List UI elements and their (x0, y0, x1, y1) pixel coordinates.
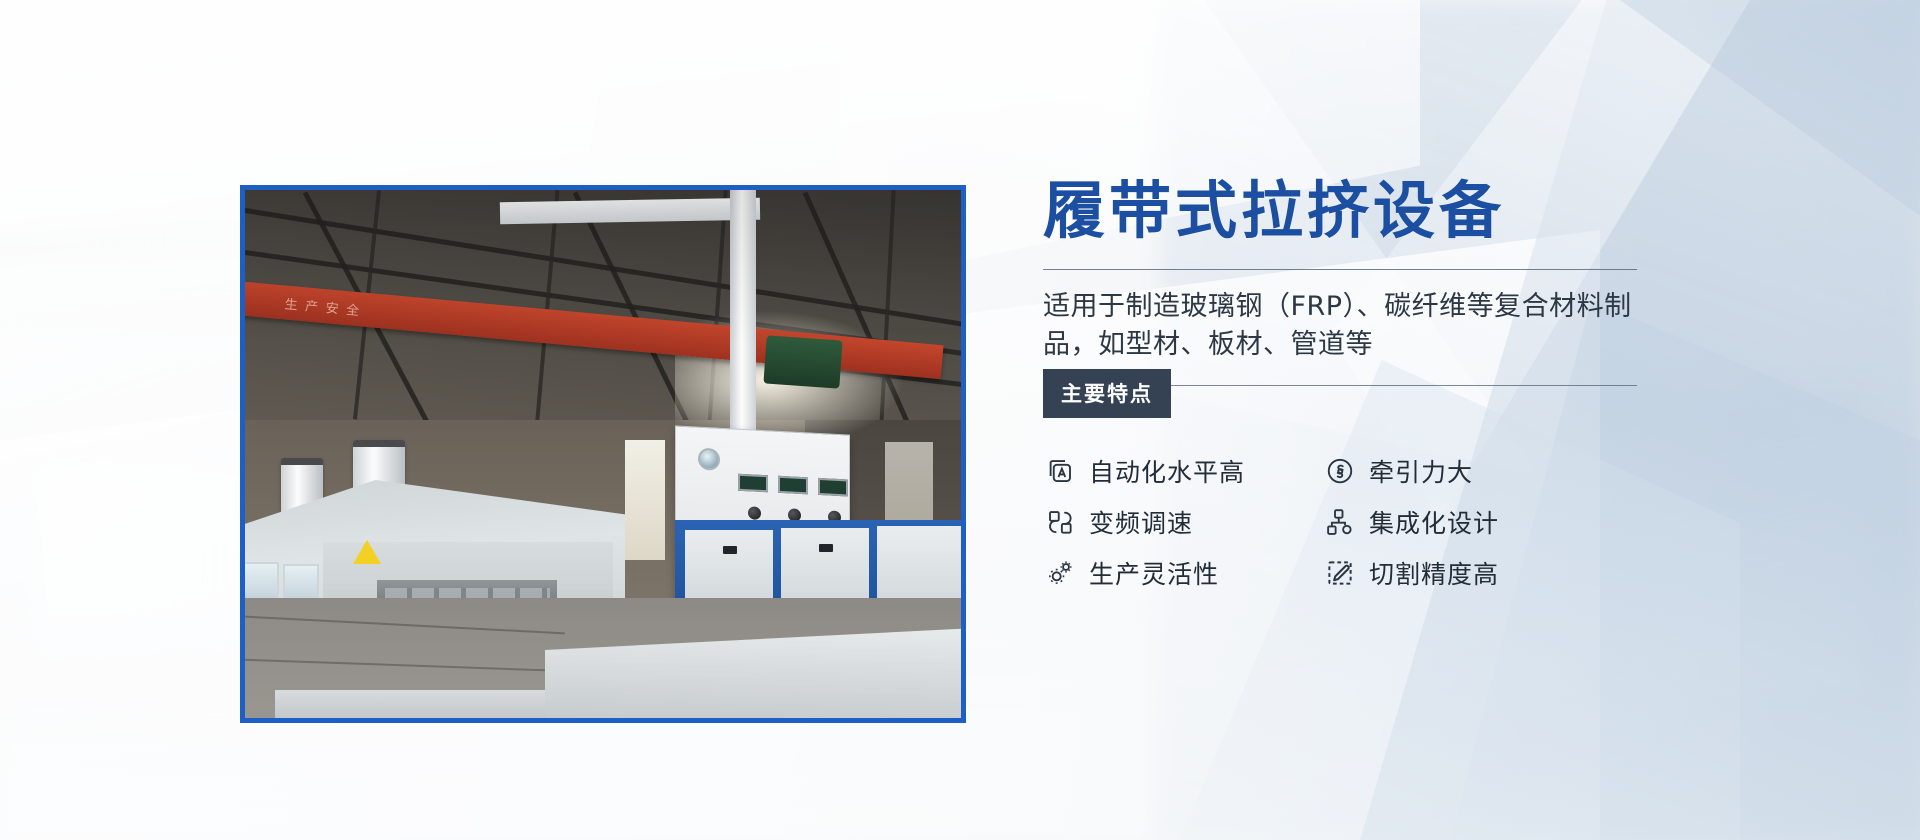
feature-row: 生产灵活性 切割精度高 (1043, 555, 1683, 591)
photo-vignette (245, 190, 961, 718)
feature-label: 生产灵活性 (1089, 555, 1219, 591)
gears-icon (1043, 556, 1077, 590)
integration-node-icon (1323, 505, 1357, 539)
feature-item-traction[interactable]: 牵引力大 (1323, 453, 1603, 489)
feature-item-flexibility[interactable]: 生产灵活性 (1043, 555, 1323, 591)
feature-item-integration[interactable]: 集成化设计 (1323, 504, 1603, 540)
feature-label: 牵引力大 (1369, 453, 1473, 489)
feature-label: 集成化设计 (1369, 504, 1499, 540)
letter-a-copy-icon (1043, 454, 1077, 488)
feature-item-automation[interactable]: 自动化水平高 (1043, 453, 1323, 489)
page-title: 履带式拉挤设备 (1043, 178, 1683, 243)
feature-row: 自动化水平高 牵引力大 (1043, 453, 1683, 489)
title-divider (1043, 269, 1637, 270)
product-description: 适用于制造玻璃钢（FRP）、碳纤维等复合材料制品，如型材、板材、管道等 (1043, 288, 1643, 365)
feature-label: 自动化水平高 (1089, 453, 1245, 489)
cut-precision-pen-icon (1323, 556, 1357, 590)
product-photo[interactable]: 生 产 安 全 (240, 185, 966, 723)
feature-item-frequency[interactable]: 变频调速 (1043, 504, 1323, 540)
feature-label: 切割精度高 (1369, 555, 1499, 591)
banner-content: 履带式拉挤设备 适用于制造玻璃钢（FRP）、碳纤维等复合材料制品，如型材、板材、… (1043, 178, 1683, 606)
feature-item-cutting[interactable]: 切割精度高 (1323, 555, 1603, 591)
feature-label: 变频调速 (1089, 504, 1193, 540)
frequency-convert-icon (1043, 505, 1077, 539)
features-list: 自动化水平高 牵引力大 (1043, 453, 1683, 591)
traction-circle-icon (1323, 454, 1357, 488)
feature-row: 变频调速 集成化设计 (1043, 504, 1683, 540)
features-badge: 主要特点 (1043, 369, 1171, 418)
